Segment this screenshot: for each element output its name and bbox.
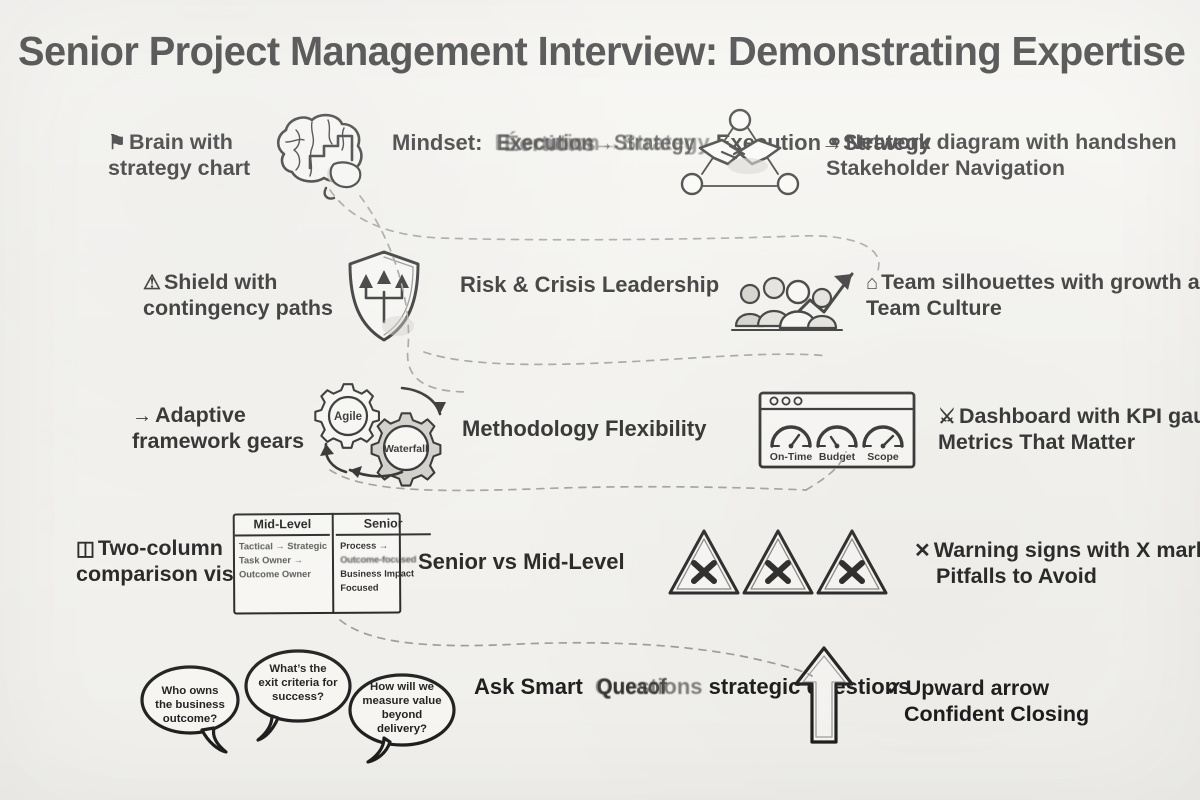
network-line-1: Network diagram with handshen [846,130,1177,154]
table-header-mid-level: Mid-Level [235,517,330,537]
garbled-text-mindset: Mindset: Execution→Strategy Execution→St… [392,130,710,156]
gauge-label-scope: Scope [867,451,899,463]
warning-triangle-icon: ⚠ [143,272,161,296]
label-risk-crisis-leadership: Risk & Crisis Leadership [460,272,719,298]
bubble-2-line-1: What’s the [269,663,326,675]
bubble-3-line-1: How will we [370,681,434,693]
team-growth-arrow-icon [730,250,860,340]
label-line-2: strategy chart [108,156,250,181]
methodology-line-1: Methodology Flexibility [462,416,706,441]
team-line-2: Team Culture [866,296,1200,321]
risk-line-2: Leadership [602,272,719,297]
shield-line-2: contingency paths [143,296,333,321]
table-column-mid-level: Mid-Level Tactical → Strategic Task Owne… [233,513,333,615]
label-line-1: Brain with [129,130,233,154]
bubble-1-line-3: outcome? [163,713,217,725]
house-icon: ⌂ [866,272,878,296]
brain-with-chart-icon [248,108,378,200]
x-mark-icon: ✕ [914,540,931,564]
network-line-2: Stakeholder Navigation [826,156,1177,181]
table-header-senior: Senior [336,516,431,536]
label-team-culture: ⌂Team silhouettes with growth arro Team … [866,270,1200,321]
table-cell: Process → [340,539,428,553]
speech-bubble-text-3: How will we measure value beyond deliver… [356,680,448,737]
arrow-right-icon: → [132,405,152,429]
speech-bubble-text-2: What’s the exit criteria for success? [252,662,344,704]
upward-line-1: Upward arrow [906,676,1049,700]
twocol-line-1: Two-column [98,536,223,560]
gear-label-agile: Agile [334,411,362,423]
label-network-stakeholder: ⚭Network diagram with handshen Stakehold… [826,130,1177,181]
agile-waterfall-gears-icon: Agile Waterfall [306,378,452,488]
warning-line-2: Pitfalls to Avoid [936,564,1200,589]
label-dashboard-kpi: ⚔Dashboard with KPI gauge Metrics That M… [938,404,1200,455]
handshake-network-icon [678,108,802,204]
ask-prefix: Ask Smart [474,674,583,699]
label-shield-contingency: ⚠Shield with contingency paths [143,270,333,321]
table-column-senior: Senior Process → Outcome-focused → Busin… [332,512,433,614]
table-cell: Focused [340,581,428,595]
checkered-flag-icon: ⚔ [938,406,956,430]
bubble-2-line-2: exit criteria for [258,677,337,689]
link-icon: ⚭ [826,132,843,156]
label-brain-with-strategy-chart: ⚑Brain with strategy chart [108,130,250,181]
table-cell: Business Impact [340,567,428,581]
speech-bubble-text-1: Who owns the business outcome? [150,684,230,726]
bubble-2-line-3: success? [272,691,324,703]
dashboard-line-1: Dashboard with KPI gauge [959,404,1200,428]
table-cell: Outcome-focused → [340,553,428,567]
bubble-3-line-2: measure value [362,695,441,707]
adaptive-line-2: framework gears [132,429,304,454]
bubble-3-line-3: beyond [382,709,423,721]
risk-line-1: Risk & Crisis [460,272,596,297]
page-title: Senior Project Management Interview: Dem… [18,28,1172,75]
dashboard-line-2: Metrics That Matter [938,430,1200,455]
upward-arrow-icon [790,644,858,748]
kpi-dashboard-icon: On-Time Budget Scope [757,390,917,470]
label-senior-vs-mid-level: Senior vs Mid-Level [418,549,625,575]
bubble-3-line-4: delivery? [377,723,427,735]
mindset-prefix: Mindset: [392,130,482,155]
label-upward-confident-closing: ✓Upward arrow Confident Closing [886,676,1089,727]
gauge-label-on-time: On-Time [770,451,813,463]
comparison-table-icon: Mid-Level Tactical → Strategic Task Owne… [233,513,401,614]
warning-line-1: Warning signs with X marks [934,538,1200,562]
bubble-1-line-1: Who owns [162,685,219,697]
warning-signs-icon [668,527,898,601]
questions-garbled-ghost: Queaof [597,674,667,700]
pin-icon: ⚑ [108,132,126,156]
label-adaptive-framework: →Adaptive framework gears [132,403,304,454]
senior-vs-line-1: Senior vs Mid-Level [418,549,625,574]
shield-with-arrows-icon [340,248,428,346]
label-warning-pitfalls: ✕Warning signs with X marks Pitfalls to … [914,538,1200,589]
label-methodology-flexibility: Methodology Flexibility [462,416,706,442]
adaptive-line-1: Adaptive [155,403,246,427]
shield-line-1: Shield with [164,270,277,294]
table-cell: Task Owner → [239,554,327,568]
table-cell: Outcome Owner [239,568,327,582]
table-cell: Tactical → Strategic [239,540,327,554]
gear-label-waterfall: Waterfall [384,443,428,455]
garbled-text-questions: Questions Queaof [595,674,703,700]
bubble-1-line-2: the business [155,699,225,711]
list-icon: ◫ [76,538,95,562]
gauge-label-budget: Budget [819,451,856,463]
upward-line-2: Confident Closing [904,702,1089,727]
mindset-garbled-ghost2: Éertions [504,131,596,157]
check-icon: ✓ [886,678,903,702]
team-line-1: Team silhouettes with growth arro [881,270,1200,294]
